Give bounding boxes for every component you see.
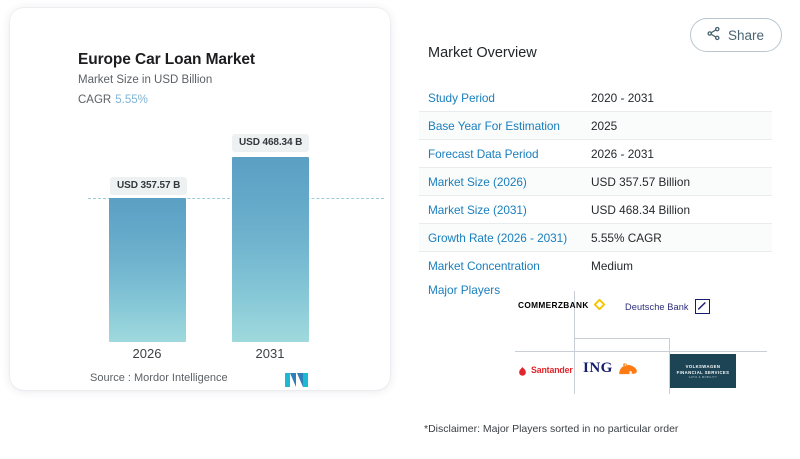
chart-cagr: CAGR5.55% (78, 94, 148, 106)
santander-flame-icon (517, 364, 528, 375)
ing-lion-icon (617, 361, 639, 377)
logo-commerzbank: COMMERZBANK (518, 299, 605, 310)
chart-card: Europe Car Loan Market Market Size in US… (10, 8, 390, 390)
row-key: Market Size (2031) (419, 203, 591, 217)
table-row: Forecast Data Period 2026 - 2031 (419, 140, 772, 168)
row-value: 2020 - 2031 (591, 91, 654, 105)
logo-ing: ING (583, 360, 639, 377)
table-row: Study Period 2020 - 2031 (419, 84, 772, 112)
mordor-intelligence-logo (285, 372, 311, 393)
row-value: 2025 (591, 119, 617, 133)
santander-wordmark: Santander (531, 365, 573, 375)
deutsche-bank-wordmark: Deutsche Bank (625, 302, 689, 312)
market-overview-heading: Market Overview (428, 45, 537, 61)
row-value: USD 357.57 Billion (591, 175, 690, 189)
table-row: Market Size (2031) USD 468.34 Billion (419, 196, 772, 224)
logo-santander: Santander (517, 364, 573, 375)
grid-divider (574, 338, 575, 394)
grid-divider (515, 351, 767, 352)
cagr-value: 5.55% (115, 94, 148, 106)
bar-2031[interactable] (232, 157, 309, 342)
row-key: Study Period (419, 91, 591, 105)
chart-source: Source : Mordor Intelligence (90, 372, 228, 384)
row-key: Base Year For Estimation (419, 119, 591, 133)
major-players-logo-grid: COMMERZBANK Deutsche Bank Santander (505, 291, 777, 401)
table-row: Growth Rate (2026 - 2031) 5.55% CAGR (419, 224, 772, 252)
market-overview-table: Study Period 2020 - 2031 Base Year For E… (419, 84, 772, 279)
bar-label-2031: USD 468.34 B (232, 134, 309, 152)
logo-vwfs: VOLKSWAGEN FINANCIAL SERVICES AUTO & MOB… (670, 354, 736, 388)
row-value: USD 468.34 Billion (591, 203, 690, 217)
grid-divider (574, 338, 670, 339)
commerzbank-mark-icon (594, 299, 605, 310)
row-key: Market Concentration (419, 259, 591, 273)
vwfs-line2: FINANCIAL SERVICES (677, 370, 730, 375)
vwfs-line1: VOLKSWAGEN (686, 364, 721, 369)
ing-wordmark: ING (583, 360, 613, 377)
share-button[interactable]: Share (690, 18, 782, 52)
commerzbank-wordmark: COMMERZBANK (518, 300, 589, 310)
x-axis-label-2031: 2031 (210, 346, 330, 361)
x-axis-label-2026: 2026 (87, 346, 207, 361)
chart-title: Europe Car Loan Market (78, 51, 255, 69)
table-row: Market Size (2026) USD 357.57 Billion (419, 168, 772, 196)
vwfs-box: VOLKSWAGEN FINANCIAL SERVICES AUTO & MOB… (670, 354, 736, 388)
logo-deutsche-bank: Deutsche Bank (625, 299, 710, 314)
vwfs-line3: AUTO & MOBILITY (689, 376, 717, 379)
chart-plot-area (10, 118, 390, 358)
bar-2026[interactable] (109, 198, 186, 342)
page-root: Share Europe Car Loan Market Market Size… (0, 0, 800, 459)
table-row: Market Concentration Medium (419, 252, 772, 279)
row-key: Forecast Data Period (419, 147, 591, 161)
chart-subtitle: Market Size in USD Billion (78, 74, 212, 86)
major-players-label: Major Players (428, 283, 500, 297)
bar-label-2026: USD 357.57 B (110, 177, 187, 195)
row-value: 2026 - 2031 (591, 147, 654, 161)
disclaimer-text: *Disclaimer: Major Players sorted in no … (424, 423, 678, 435)
cagr-label: CAGR (78, 94, 111, 106)
table-row: Base Year For Estimation 2025 (419, 112, 772, 140)
share-nodes-icon (706, 26, 721, 44)
row-value: Medium (591, 259, 633, 273)
row-key: Market Size (2026) (419, 175, 591, 189)
row-value: 5.55% CAGR (591, 231, 662, 245)
row-key: Growth Rate (2026 - 2031) (419, 231, 591, 245)
deutsche-bank-mark-icon (695, 299, 710, 314)
share-button-label: Share (728, 28, 764, 43)
